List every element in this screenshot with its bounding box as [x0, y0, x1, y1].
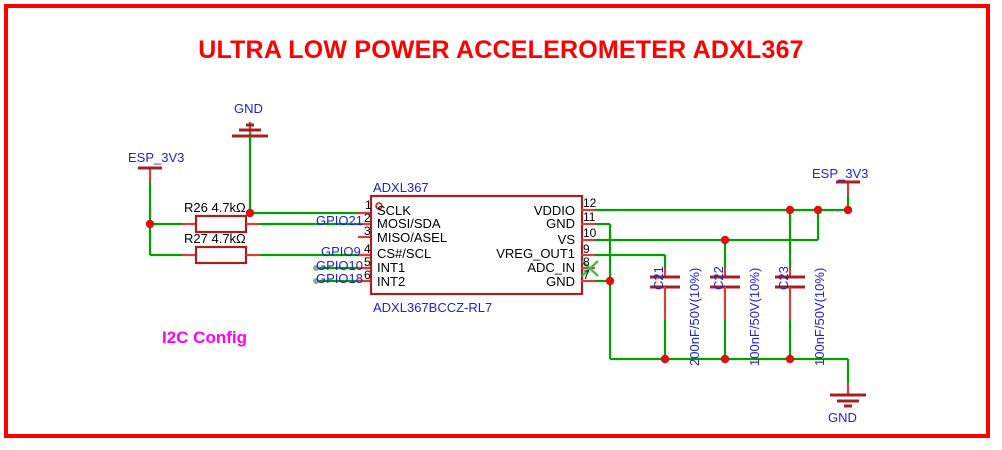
net-label-gpio9: GPIO9: [321, 244, 361, 259]
ic-pin-number-12: 12: [583, 196, 596, 210]
ic-pin-number-7: 7: [583, 268, 590, 282]
ic-designator: ADXL367: [373, 180, 429, 195]
ic-pin-number-9: 9: [583, 242, 590, 256]
net-label-gpio21: GPIO21: [316, 213, 363, 228]
net-vs: [595, 210, 818, 240]
ic-pin-name-gnd-7: GND: [400, 274, 575, 289]
capacitor-c22-value: 100nF/50V(10%): [747, 268, 762, 366]
label-esp3v3-right: ESP_3V3: [812, 166, 868, 181]
ic-pin-number-3: 3: [364, 224, 371, 238]
ic-pin-number-2: 2: [364, 211, 371, 225]
note-i2c-config: I2C Config: [162, 328, 247, 348]
r26-value-text: 4.7kΩ: [211, 200, 245, 215]
r27-value-text: 4.7kΩ: [211, 231, 245, 246]
capacitor-c21-designator: C21: [651, 266, 666, 290]
net-gnd-ic: [595, 224, 848, 359]
ic-pin-name-adc-in: ADC_IN: [400, 260, 575, 275]
ic-pin-number-8: 8: [583, 255, 590, 269]
ic-pin-number-6: 6: [364, 268, 371, 282]
ic-pin-number-10: 10: [583, 226, 596, 240]
ic-pin-number-4: 4: [364, 242, 371, 256]
power-symbol-esp3v3-left: [138, 168, 162, 255]
r27-designator-text: R27: [184, 231, 208, 246]
capacitor-c22-designator: C22: [711, 266, 726, 290]
capacitor-c22-symbol: [710, 240, 740, 359]
ic-pin-name-vreg-out1: VREG_OUT1: [400, 246, 575, 261]
capacitor-c23-value: 100nF/50V(10%): [812, 268, 827, 366]
ic-pin-name-gnd-11: GND: [400, 216, 575, 231]
capacitor-c23-designator: C23: [776, 266, 791, 290]
resistor-r27-designator: R27 4.7kΩ: [184, 231, 246, 246]
ic-pin-number-5: 5: [364, 255, 371, 269]
net-label-gpio18: GPIO18: [316, 271, 363, 286]
ic-pin-number-11: 11: [583, 210, 595, 224]
gnd-symbol-top: [232, 122, 370, 213]
label-gnd-bottom: GND: [828, 410, 857, 425]
capacitor-c21-value: 200nF/50V(10%): [687, 268, 702, 366]
gnd-symbol-bottom: [830, 359, 866, 406]
ic-part-number: ADXL367BCCZ-RL7: [373, 300, 492, 315]
r26-designator-text: R26: [184, 200, 208, 215]
label-gnd-top: GND: [234, 101, 263, 116]
ic-pin-name-vs: VS: [400, 232, 575, 247]
schematic-sheet: ULTRA LOW POWER ACCELEROMETER ADXL367: [0, 0, 1002, 450]
ic-pin-number-1: 1: [365, 198, 372, 212]
resistor-r26-designator: R26 4.7kΩ: [184, 200, 246, 215]
label-esp3v3-left: ESP_3V3: [128, 150, 184, 165]
